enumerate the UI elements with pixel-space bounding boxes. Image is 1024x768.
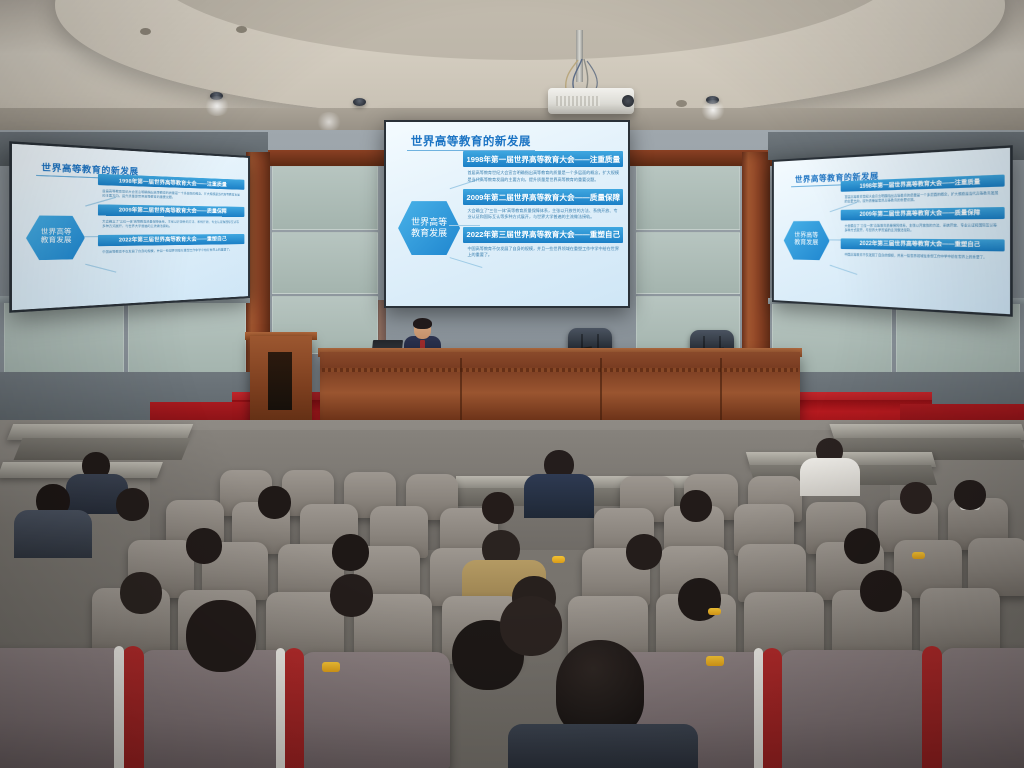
audience-person-head: [626, 534, 662, 570]
audience-person-head: [900, 482, 932, 514]
hex-label-line2: 教育发展: [411, 228, 447, 238]
front-row-chair-trim: [754, 648, 763, 768]
slide-item: 2009年第二届世界高等教育大会——质量保障 大会确立了“三位一体”高等教育质量…: [97, 204, 244, 228]
audience-person-shoulders: [524, 474, 594, 518]
hex-label-line2: 教育发展: [794, 241, 818, 247]
audience-person-head: [332, 534, 369, 571]
audience-person-head: [500, 596, 562, 656]
slide-item: 2022年第三届世界高等教育大会——重塑自己 中国高等教育不仅发展了自身的规模，…: [840, 238, 1004, 260]
slide-item-list: 1998年第一届世界高等教育大会——注重质量 首届高等教育世纪大会宣言明确指出高…: [97, 174, 244, 260]
audience-person-head: [556, 640, 644, 736]
slide-item: 1998年第一届世界高等教育大会——注重质量 首届高等教育世纪大会宣言明确指出高…: [463, 151, 623, 182]
slide-left: 世界高等教育的新发展 世界高等 教育发展 1998年第一届世界高等教育大会——注…: [12, 144, 248, 310]
front-row-chair-trim: [122, 646, 144, 768]
seat-number-tag: [708, 608, 721, 615]
slide-center: 世界高等教育的新发展 世界高等 教育发展 1998年第一届世界高等教育大会——注…: [386, 122, 628, 306]
audience-person-head: [482, 492, 514, 524]
slide-item-body: 大会确立了“三位一体”高等教育质量保障体系，主张以开放性的方法、系统开放、专业认…: [97, 216, 244, 229]
audience-person-head: [186, 600, 256, 672]
audience-person-head: [860, 570, 902, 612]
slide-hexagon-label: 世界高等 教育发展: [398, 201, 460, 255]
hex-label-line1: 世界高等: [41, 229, 72, 236]
audience-person-head: [330, 574, 373, 617]
slide-title: 世界高等教育的新发展: [407, 133, 535, 151]
audience-person-head: [680, 490, 712, 522]
slide-item-body: 大会确立了“三位一体”高等教育质量保障体系，主张以开放性的方法、系统开放、专业认…: [840, 219, 1004, 233]
front-row-chair-trim: [114, 646, 124, 768]
presenter-hair: [413, 318, 432, 329]
slide-item-banner: 2022年第三届世界高等教育大会——重塑自己: [463, 227, 623, 243]
left-projection-screen[interactable]: 世界高等教育的新发展 世界高等 教育发展 1998年第一届世界高等教育大会——注…: [9, 141, 250, 313]
ceiling-downlight-icon: [236, 26, 247, 33]
front-row-chair-trim: [922, 646, 942, 768]
seat-number-tag: [322, 662, 340, 672]
wall-panel: [128, 300, 246, 374]
wall-panel-green: [272, 166, 378, 230]
right-projection-screen[interactable]: 世界高等教育的新发展 世界高等 教育发展 1998年第一届世界高等教育大会——注…: [772, 145, 1013, 317]
audience-person-head: [116, 488, 149, 521]
audience-person-shoulders: [800, 458, 860, 496]
slide-hexagon-label: 世界高等 教育发展: [784, 221, 830, 261]
slide-leader-line: [85, 263, 116, 272]
slide-item: 1998年第一届世界高等教育大会——注重质量 首届高等教育世纪大会宣言明确指出高…: [97, 174, 244, 201]
head-table-seam: [460, 358, 462, 420]
audience-person-head: [844, 528, 880, 564]
seat-number-tag: [552, 556, 565, 563]
ceiling-downlight-icon: [140, 28, 151, 35]
hex-label-line1: 世界高等: [794, 233, 818, 239]
wall-panel-green: [272, 232, 378, 294]
audience-person-head: [120, 572, 162, 614]
head-table-seam: [720, 358, 722, 420]
slide-item: 2022年第三届世界高等教育大会——重塑自己 中国高等教育不仅发展了自身的规模，…: [97, 234, 244, 254]
slide-hexagon-label: 世界高等 教育发展: [26, 215, 85, 260]
audience-person-shoulders: [14, 510, 92, 558]
slide-item-banner: 2009年第二届世界高等教育大会——质量保障: [463, 189, 623, 205]
slide-item-body: 中国高等教育不仅发展了自身的规模，并且一些世界领域在重塑工作中学中给在世界上的重…: [840, 249, 1004, 260]
slide-item-list: 1998年第一届世界高等教育大会——注重质量 首届高等教育世纪大会宣言明确指出高…: [840, 175, 1004, 267]
audience-person-shoulders: [508, 724, 698, 768]
front-row-chair-trim: [762, 648, 782, 768]
hex-label-line1: 世界高等: [411, 217, 447, 227]
slide-item-body: 大会确立了“三位一体”高等教育质量保障体系，主张以开放性的方法、系统开放、专业认…: [463, 205, 623, 220]
wall-panel-green: [636, 232, 740, 294]
slide-item: 2009年第二届世界高等教育大会——质量保障 大会确立了“三位一体”高等教育质量…: [463, 189, 623, 220]
slide-leader-line: [830, 265, 858, 275]
slide-item-body: 首届高等教育世纪大会宣言明确指出高等教育的质量是一个多层面的概念，扩大规模是当代…: [463, 167, 623, 182]
auditorium-scene: 世界高等教育的新发展 世界高等 教育发展 1998年第一届世界高等教育大会——注…: [0, 0, 1024, 768]
spotlight-glow: [700, 100, 726, 120]
front-row-chair[interactable]: [940, 648, 1024, 768]
front-row-chair-trim: [284, 648, 304, 768]
slide-item-body: 中国高等教育不仅发展了自身的规模，并且一些世界领域在重塑工作中学中给在世界上的重…: [97, 244, 244, 254]
spotlight-glow: [204, 96, 230, 116]
audience-person-head: [954, 480, 986, 510]
slide-right: 世界高等教育的新发展 世界高等 教育发展 1998年第一届世界高等教育大会——注…: [774, 148, 1010, 314]
head-table: [320, 352, 800, 420]
projector-lens-icon: [622, 95, 634, 107]
hex-label-line2: 教育发展: [41, 238, 72, 245]
audience-person-head: [258, 486, 291, 519]
spotlight-glow: [316, 112, 342, 132]
ceiling-downlight-icon: [676, 100, 687, 107]
audience-person-head: [186, 528, 222, 564]
slide-item-banner: 1998年第一届世界高等教育大会——注重质量: [463, 151, 623, 167]
slide-item: 2022年第三届世界高等教育大会——重塑自己 中国高等教育不仅发展了自身的规模，…: [463, 227, 623, 258]
ceiling-spotlight-icon: [353, 98, 366, 106]
head-table-seam: [600, 358, 602, 420]
seat-number-tag: [706, 656, 724, 666]
lectern-panel: [268, 352, 292, 410]
center-projection-screen[interactable]: 世界高等教育的新发展 世界高等 教育发展 1998年第一届世界高等教育大会——注…: [384, 120, 630, 308]
projector-cables-icon: [556, 56, 612, 92]
front-row-chair-trim: [276, 648, 285, 768]
projector-vent: [556, 96, 600, 106]
front-row-chair[interactable]: [780, 650, 930, 768]
slide-item: 2009年第二届世界高等教育大会——质量保障 大会确立了“三位一体”高等教育质量…: [840, 207, 1004, 233]
slide-item-list: 1998年第一届世界高等教育大会——注重质量 首届高等教育世纪大会宣言明确指出高…: [463, 151, 623, 264]
head-table-trim: [322, 368, 798, 372]
front-row-chair[interactable]: [0, 648, 130, 768]
seat-number-tag: [912, 552, 925, 559]
wall-panel-green: [636, 166, 740, 230]
slide-item-body: 中国高等教育不仅发展了自身的规模，并且一些世界领域在重塑工作中学中给在世界上的重…: [463, 243, 623, 258]
